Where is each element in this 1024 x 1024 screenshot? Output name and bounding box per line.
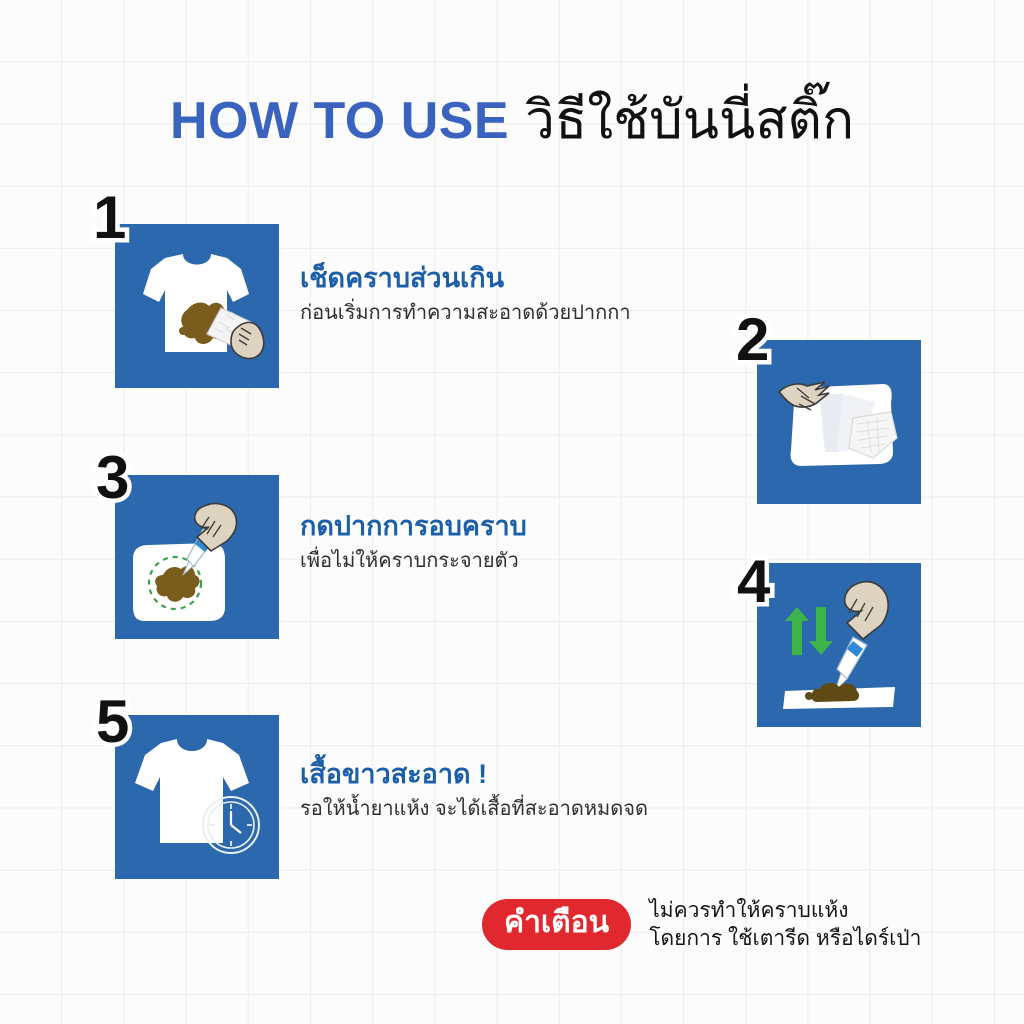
up-arrow-icon: [785, 607, 809, 655]
hand-tissue-under-cloth-icon: [757, 340, 921, 504]
step-5-illustration-tile: [115, 715, 279, 879]
infographic-page: HOW TO USEวิธีใช้บันนี่สติ๊ก 1 เช็ดคราบส…: [0, 0, 1024, 1024]
clean-shirt-clock-icon: [115, 715, 279, 879]
step-2-illustration-tile: [757, 340, 921, 504]
warning-line-2: โดยการ ใช้เตารีด หรือไดร์เป่า: [649, 925, 921, 953]
step-1-title: เช็ดคราบส่วนเกิน: [300, 262, 631, 295]
step-5-subtitle: รอให้น้ำยาแห้ง จะได้เสื้อที่สะอาดหมดจด: [300, 795, 648, 823]
warning-line-1: ไม่ควรทำให้คราบแห้ง: [649, 897, 921, 925]
step-2-number-badge: 2: [736, 310, 769, 370]
page-title-thai: วิธีใช้บันนี่สติ๊ก: [525, 91, 854, 150]
step-3-number-badge: 3: [96, 448, 129, 508]
shirt-stain-tissue-icon: [115, 224, 279, 388]
step-3-text-block: กดปากการอบคราบ เพื่อไม่ให้คราบกระจายตัว: [300, 510, 527, 575]
step-5-text-block: เสื้อขาวสะอาด ! รอให้น้ำยาแห้ง จะได้เสื้…: [300, 758, 648, 823]
page-title-english: HOW TO USE: [170, 92, 509, 150]
pen-press-updown-icon: [757, 563, 921, 727]
clock-icon: [203, 797, 259, 853]
step-3-illustration-tile: [115, 475, 279, 639]
step-3-subtitle: เพื่อไม่ให้คราบกระจายตัว: [300, 547, 527, 575]
step-1-text-block: เช็ดคราบส่วนเกิน ก่อนเริ่มการทำความสะอาด…: [300, 262, 631, 327]
page-header: HOW TO USEวิธีใช้บันนี่สติ๊ก: [0, 78, 1024, 162]
pen-dotting-stain-icon: [115, 475, 279, 639]
step-1-number-badge: 1: [93, 188, 126, 248]
warning-badge: คำเตือน: [482, 899, 631, 950]
step-1-subtitle: ก่อนเริ่มการทำความสะอาดด้วยปากกา: [300, 299, 631, 327]
step-4-illustration-tile: [757, 563, 921, 727]
step-5-number-badge: 5: [96, 692, 129, 752]
step-5-title: เสื้อขาวสะอาด !: [300, 758, 648, 791]
step-1-illustration-tile: [115, 224, 279, 388]
step-4-number-badge: 4: [737, 552, 770, 612]
warning-text: ไม่ควรทำให้คราบแห้ง โดยการ ใช้เตารีด หรื…: [649, 897, 921, 952]
step-3-title: กดปากการอบคราบ: [300, 510, 527, 543]
warning-banner: คำเตือน ไม่ควรทำให้คราบแห้ง โดยการ ใช้เต…: [482, 897, 921, 952]
down-arrow-icon: [809, 607, 833, 655]
